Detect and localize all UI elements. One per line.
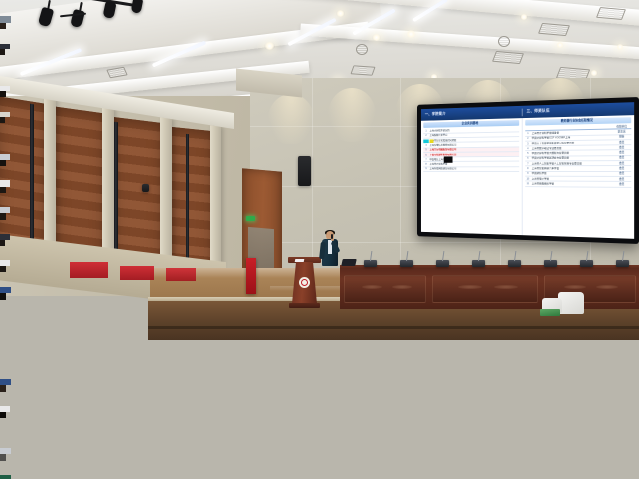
row-role: 委员: [612, 146, 631, 149]
speaker-trousers: [323, 265, 337, 293]
row-organization: 上海市人工智能学会人工智能伦理专业委员会: [531, 162, 612, 165]
downlight: [336, 10, 345, 17]
row-organization: 上海仪电信息网络有限公司: [429, 143, 519, 147]
row-role: 委员: [612, 167, 631, 170]
podium-emblem-icon: [299, 277, 310, 288]
auditorium-seat[interactable]: [0, 191, 20, 207]
row-organization: 中国计算机学会大数据专业委员会: [531, 151, 612, 155]
audience-member: [0, 475, 6, 479]
wall-speaker: [298, 156, 311, 186]
exit-sign-icon: [246, 216, 255, 221]
auditorium-seat[interactable]: [0, 0, 20, 16]
slide-right-column: 教师兼行业协会任职情况 任职单位1上海市计算机学会理事会副主席2中国计算机学会C…: [522, 115, 634, 239]
audience-member: [0, 180, 6, 191]
screen-color-chip: [423, 139, 428, 143]
ceiling-vent: [538, 23, 570, 36]
slide-left-column: 企业实训基地 1上海计算技术研究所2上海超级计算中心3上海市信息化发展研究协会4…: [421, 118, 522, 235]
wall-trim-strip: [186, 134, 189, 266]
auditorium-seat[interactable]: [0, 432, 20, 448]
screen-cursor-artifact: [444, 156, 453, 162]
red-rollup-banner: [246, 258, 256, 294]
auditorium-seat[interactable]: [0, 299, 20, 315]
row-organization: 上海科技网络通信有限公司: [429, 168, 519, 171]
row-organization: 上海市智能网联汽车学会: [531, 167, 612, 170]
downlight: [556, 42, 564, 48]
auditorium-seat[interactable]: [0, 70, 20, 86]
presentation-screen[interactable]: 一、学院简介 三、师资队伍 企业实训基地 1上海计算技术研究所2上海超级计算中心…: [417, 97, 639, 244]
audience-member: [0, 448, 6, 459]
row-organization: 上海市图像图形学会: [531, 182, 612, 185]
auditorium-seat[interactable]: [0, 54, 20, 70]
auditorium-seat[interactable]: [0, 96, 20, 112]
audience-member: [0, 379, 6, 390]
ceiling-vent: [492, 51, 524, 64]
right-table-rows: 任职单位1上海市计算机学会理事会副主席2中国计算机学会CCF YOCSEF上海理…: [525, 124, 631, 187]
audience-shoulders: [0, 287, 11, 294]
audience-member: [0, 260, 6, 271]
slide-section-right-label: 三、师资队伍: [527, 109, 550, 114]
wall-light-glow: [328, 88, 376, 142]
auditorium-seat[interactable]: [0, 416, 20, 432]
table-row: 11上海市图像图形学会委员: [525, 182, 631, 188]
downlight: [372, 34, 381, 41]
auditorium-seat[interactable]: [0, 390, 20, 406]
row-role: 委员: [612, 141, 631, 144]
row-role: 委员: [612, 162, 631, 165]
audience-member: [0, 207, 6, 218]
downlight: [616, 44, 624, 50]
row-role: 副主席: [612, 130, 631, 133]
auditorium-seat[interactable]: [0, 244, 20, 260]
ceiling-speaker: [498, 36, 510, 47]
row-role: 委员: [612, 183, 631, 186]
slide-section-left-label: 一、学院简介: [425, 112, 446, 117]
auditorium-photo: 一、学院简介 三、师资队伍 企业实训基地 1上海计算技术研究所2上海超级计算中心…: [0, 0, 639, 479]
row-organization: 上海市信息化发展研究协会: [429, 138, 519, 142]
auditorium-seat[interactable]: [0, 218, 20, 234]
audience-member: [0, 44, 5, 54]
handheld-microphone: [331, 234, 333, 239]
green-box: [540, 309, 560, 316]
row-organization: 上海市数字取证专业委员会: [531, 146, 612, 150]
slide-body: 企业实训基地 1上海计算技术研究所2上海超级计算中心3上海市信息化发展研究协会4…: [421, 115, 634, 239]
head-table-face: [340, 269, 639, 309]
slide-section-left: 一、学院简介: [421, 110, 521, 117]
audience-member: [0, 16, 6, 28]
podium-base: [289, 303, 320, 308]
row-organization: 上海宝信软件股份有限公司: [429, 153, 519, 156]
red-banner-left: [70, 262, 108, 278]
auditorium-seat[interactable]: [0, 347, 20, 363]
auditorium-seat[interactable]: [0, 363, 20, 379]
auditorium-seat[interactable]: [0, 459, 20, 475]
row-organization: 中国人工智能学会机器学习专业委员会: [531, 141, 612, 145]
speaking-podium[interactable]: [288, 257, 321, 309]
auditorium-seat[interactable]: [0, 28, 20, 44]
wall-trim-strip: [114, 122, 118, 263]
screen-color-chip: [430, 139, 434, 143]
podium-papers: [295, 259, 305, 262]
column-header-role: 任职单位: [612, 125, 631, 128]
downlight: [520, 14, 528, 20]
ceiling-vent: [350, 65, 375, 75]
downlight: [590, 70, 598, 76]
row-organization: 上海市计算机学会理事会: [531, 130, 612, 134]
row-organization: 中国计算机学会区块链专业委员会: [531, 157, 612, 160]
ceiling-vent: [106, 67, 127, 79]
row-organization: 上海市计算机学会: [429, 163, 519, 166]
row-organization: 上海市电子学会: [531, 177, 612, 180]
row-role: 委员: [612, 156, 631, 159]
audience-member: [0, 406, 6, 416]
head-table: [340, 265, 639, 313]
ceiling-speaker: [356, 44, 368, 55]
auditorium-seat[interactable]: [0, 164, 20, 180]
auditorium-seat[interactable]: [0, 271, 20, 287]
red-banner-left: [120, 266, 154, 280]
audience-shoulders: [0, 475, 11, 479]
laptop[interactable]: [341, 259, 356, 266]
row-role: 委员: [612, 172, 631, 175]
audience-member: [0, 287, 6, 299]
row-organization: 中国通信学会: [531, 172, 612, 175]
audience-member: [0, 86, 6, 96]
row-organization: 中国计算机学会CCF YOCSEF上海: [531, 136, 612, 140]
row-role: 委员: [612, 178, 631, 181]
audience-member: [0, 234, 5, 244]
ceiling-vent: [596, 7, 626, 20]
slide-content: 一、学院简介 三、师资队伍 企业实训基地 1上海计算技术研究所2上海超级计算中心…: [421, 102, 634, 239]
downlight: [406, 30, 416, 38]
row-role: 理事: [612, 135, 631, 138]
row-organization: 中国电信上海分公司: [429, 158, 519, 161]
spacer: [525, 127, 612, 129]
audience-member: [0, 154, 6, 165]
auditorium-seat[interactable]: [0, 122, 20, 138]
auditorium-seat[interactable]: [0, 331, 20, 347]
presenting-speaker: [320, 231, 342, 297]
row-organization: 上海华东电脑股份有限公司: [429, 148, 519, 152]
wall-wood-panel: [170, 127, 214, 278]
audience-member: [0, 112, 5, 122]
row-role: 委员: [612, 151, 631, 154]
left-table-rows: 1上海计算技术研究所2上海超级计算中心3上海市信息化发展研究协会4上海仪电信息网…: [423, 127, 519, 172]
slide-section-right: 三、师资队伍: [522, 106, 634, 114]
downlight: [264, 42, 275, 50]
wall-speaker: [142, 184, 149, 192]
stage-items: [540, 296, 590, 318]
table-row: 9上海科技网络通信有限公司: [423, 167, 519, 172]
auditorium-seat[interactable]: [0, 315, 20, 331]
wall-light-glow: [268, 94, 314, 144]
auditorium-seat[interactable]: [0, 138, 20, 154]
red-banner-left: [166, 268, 196, 281]
seated-audience: [0, 0, 68, 479]
